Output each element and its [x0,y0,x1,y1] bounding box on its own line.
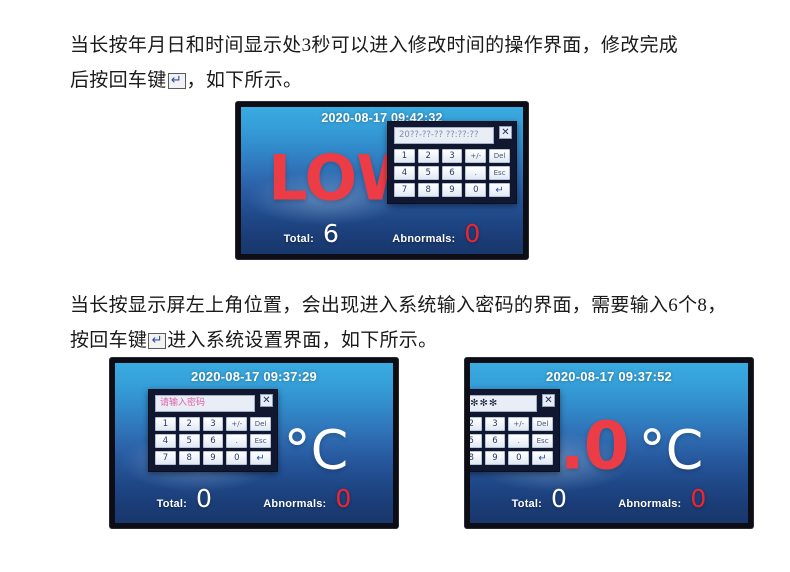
password-keypad-dialog[interactable]: ✕ 请输入密码 1 2 3 +/- Del 4 5 6 . Esc 7 8 9 … [148,389,278,472]
keypad-key-0[interactable]: 0 [465,183,486,197]
paragraph-2-line-1: 当长按显示屏左上角位置，会出现进入系统输入密码的界面，需要输入6个8， [70,288,760,323]
instruction-paragraph-1: 当长按年月日和时间显示处3秒可以进入修改时间的操作界面，修改完成 后按回车键↵，… [70,28,760,98]
keypad-grid: 1 2 3 +/- Del 4 5 6 . Esc 7 8 9 0 ↵ [155,417,271,465]
keypad-key-9[interactable]: 9 [203,451,224,465]
device-screenshot-3: 2020-08-17 09:37:52 0.0°C ✕ ✻✻✻✻✻✻ 1 2 3… [465,358,753,528]
numeric-keypad-dialog[interactable]: ✕ 20??-??-?? ??:??:?? 1 2 3 +/- Del 4 5 … [387,121,517,204]
keypad-input-field[interactable]: 20??-??-?? ??:??:?? [394,127,494,144]
abnormals-stat: Abnormals: 0 [263,486,351,511]
abnormals-label: Abnormals: [392,233,455,245]
keypad-key-plusminus[interactable]: +/- [508,417,529,431]
total-label: Total: [512,498,542,510]
keypad-key-0[interactable]: 0 [508,451,529,465]
keypad-key-8[interactable]: 8 [470,451,482,465]
keypad-key-2[interactable]: 2 [470,417,482,431]
paragraph-2-line-2-before: 按回车键 [70,330,147,351]
enter-key-icon: ↵ [168,73,186,89]
device-screenshot-1: 2020-08-17 09:42:32 LOW°C ✕ 20??-??-?? ?… [236,102,528,259]
temperature-unit: °C [639,419,704,482]
screen-stats-bar: Total: 6 Abnormals: 0 [241,221,523,246]
password-keypad-dialog[interactable]: ✕ ✻✻✻✻✻✻ 1 2 3 +/- Del 4 5 6 . Esc 7 8 9… [470,389,560,472]
device-screenshot-2: 2020-08-17 09:37:29 0.0°C ✕ 请输入密码 1 2 3 … [110,358,398,528]
keypad-key-1[interactable]: 1 [394,149,415,163]
keypad-key-2[interactable]: 2 [179,417,200,431]
keypad-key-del[interactable]: Del [250,417,271,431]
screen-stats-bar: Total: 0 Abnormals: 0 [115,486,393,511]
keypad-key-enter[interactable]: ↵ [532,451,553,465]
total-stat: Total: 0 [512,486,567,511]
keypad-key-dot[interactable]: . [226,434,247,448]
paragraph-1-line-2-after: ，如下所示。 [187,70,303,91]
enter-key-glyph: ↵ [169,72,185,90]
password-input-field[interactable]: 请输入密码 [155,395,255,412]
device-screen-2: 2020-08-17 09:37:29 0.0°C ✕ 请输入密码 1 2 3 … [115,363,393,523]
keypad-key-esc[interactable]: Esc [250,434,271,448]
screen-timestamp[interactable]: 2020-08-17 09:37:52 [470,369,748,384]
keypad-key-esc[interactable]: Esc [532,434,553,448]
keypad-key-3[interactable]: 3 [485,417,506,431]
total-label: Total: [284,233,314,245]
keypad-key-8[interactable]: 8 [418,183,439,197]
keypad-key-9[interactable]: 9 [485,451,506,465]
abnormals-stat: Abnormals: 0 [392,221,480,246]
abnormals-label: Abnormals: [263,498,326,510]
enter-key-icon: ↵ [148,333,166,349]
paragraph-1-line-2: 后按回车键↵，如下所示。 [70,63,760,98]
abnormals-stat: Abnormals: 0 [618,486,706,511]
keypad-key-7[interactable]: 7 [394,183,415,197]
keypad-key-plusminus[interactable]: +/- [226,417,247,431]
keypad-key-3[interactable]: 3 [203,417,224,431]
keypad-key-1[interactable]: 1 [155,417,176,431]
device-screen-3: 2020-08-17 09:37:52 0.0°C ✕ ✻✻✻✻✻✻ 1 2 3… [470,363,748,523]
keypad-key-del[interactable]: Del [489,149,510,163]
abnormals-value: 0 [335,486,351,511]
keypad-key-4[interactable]: 4 [394,166,415,180]
keypad-key-5[interactable]: 5 [418,166,439,180]
enter-key-glyph: ↵ [149,332,165,350]
keypad-key-enter[interactable]: ↵ [489,183,510,197]
total-stat: Total: 0 [157,486,212,511]
total-value: 0 [551,486,567,511]
keypad-key-6[interactable]: 6 [203,434,224,448]
total-value: 6 [323,221,339,246]
keypad-key-5[interactable]: 5 [179,434,200,448]
keypad-key-dot[interactable]: . [508,434,529,448]
temperature-unit: °C [284,419,349,482]
keypad-key-6[interactable]: 6 [442,166,463,180]
keypad-key-3[interactable]: 3 [442,149,463,163]
paragraph-1-line-1: 当长按年月日和时间显示处3秒可以进入修改时间的操作界面，修改完成 [70,28,760,63]
abnormals-value: 0 [690,486,706,511]
close-icon[interactable]: ✕ [542,394,555,407]
password-input-value: ✻✻✻✻✻✻ [470,396,498,411]
close-icon[interactable]: ✕ [260,394,273,407]
keypad-key-5[interactable]: 5 [470,434,482,448]
screen-stats-bar: Total: 0 Abnormals: 0 [470,486,748,511]
password-input-placeholder: 请输入密码 [160,396,205,411]
close-icon[interactable]: ✕ [499,126,512,139]
abnormals-value: 0 [464,221,480,246]
keypad-key-enter[interactable]: ↵ [250,451,271,465]
password-input-field[interactable]: ✻✻✻✻✻✻ [470,395,537,412]
keypad-input-text: 20??-??-?? ??:??:?? [399,128,479,143]
keypad-grid: 1 2 3 +/- Del 4 5 6 . Esc 7 8 9 0 ↵ [470,417,553,465]
total-value: 0 [196,486,212,511]
keypad-key-9[interactable]: 9 [442,183,463,197]
keypad-key-dot[interactable]: . [465,166,486,180]
paragraph-2-line-2-after: 进入系统设置界面，如下所示。 [167,330,437,351]
keypad-key-esc[interactable]: Esc [489,166,510,180]
keypad-key-2[interactable]: 2 [418,149,439,163]
keypad-key-del[interactable]: Del [532,417,553,431]
device-screen-1: 2020-08-17 09:42:32 LOW°C ✕ 20??-??-?? ?… [241,107,523,254]
abnormals-label: Abnormals: [618,498,681,510]
keypad-key-plusminus[interactable]: +/- [465,149,486,163]
instruction-paragraph-2: 当长按显示屏左上角位置，会出现进入系统输入密码的界面，需要输入6个8， 按回车键… [70,288,760,358]
total-stat: Total: 6 [284,221,339,246]
paragraph-1-line-2-before: 后按回车键 [70,70,167,91]
keypad-key-0[interactable]: 0 [226,451,247,465]
keypad-key-4[interactable]: 4 [155,434,176,448]
paragraph-2-line-2: 按回车键↵进入系统设置界面，如下所示。 [70,323,760,358]
screen-timestamp[interactable]: 2020-08-17 09:37:29 [115,369,393,384]
keypad-key-8[interactable]: 8 [179,451,200,465]
keypad-key-6[interactable]: 6 [485,434,506,448]
keypad-key-7[interactable]: 7 [155,451,176,465]
keypad-grid: 1 2 3 +/- Del 4 5 6 . Esc 7 8 9 0 ↵ [394,149,510,197]
total-label: Total: [157,498,187,510]
